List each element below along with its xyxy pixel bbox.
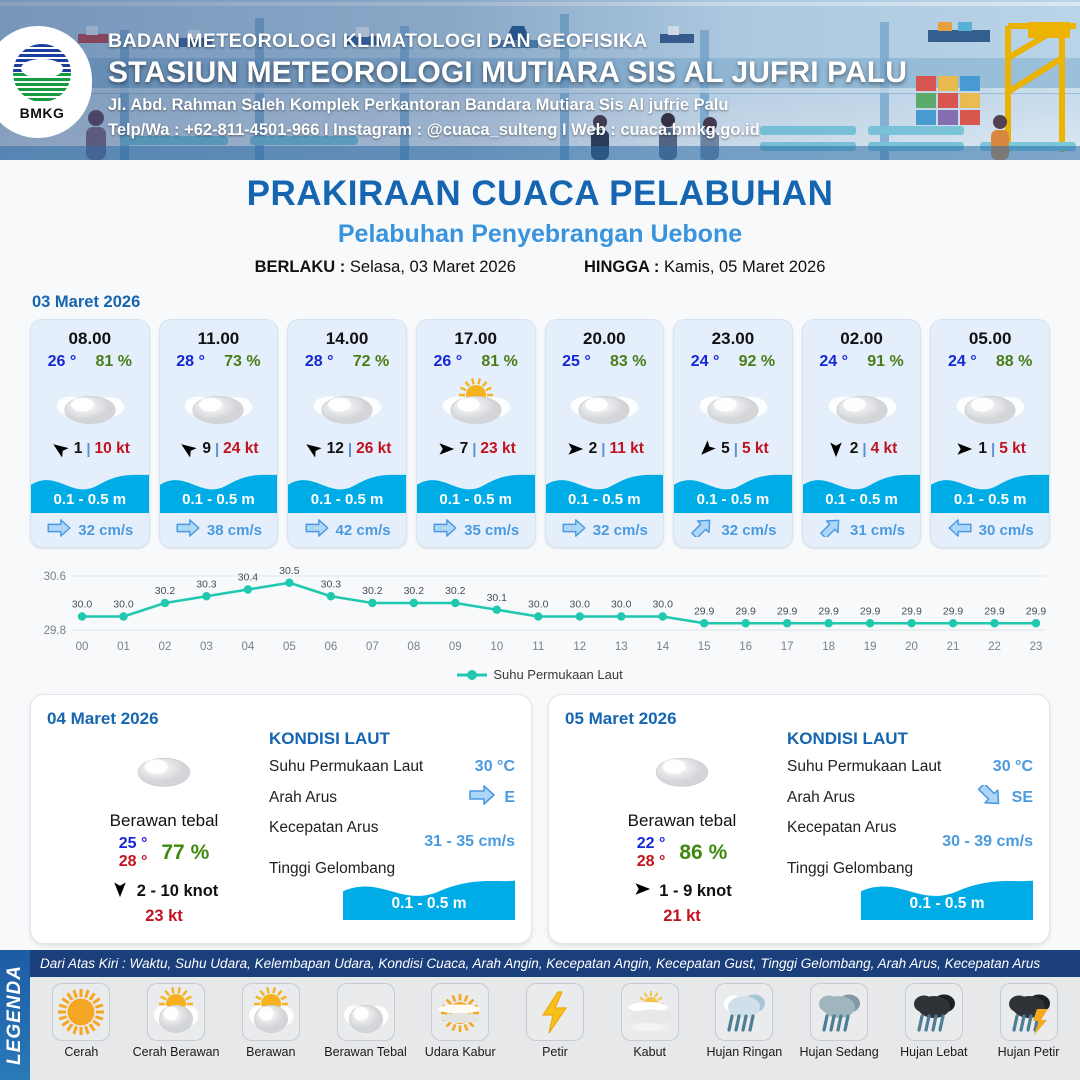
legend-icon-rain-storm-icon — [1000, 983, 1058, 1041]
legend-item-label: Hujan Petir — [983, 1045, 1075, 1059]
daily-temps: 22 ° 28 ° — [637, 835, 666, 871]
card-temperature: 25 ° — [562, 353, 591, 371]
wind-separator: | — [215, 441, 219, 458]
svg-text:30.3: 30.3 — [196, 578, 217, 590]
current-speed-value: 31 - 35 cm/s — [424, 833, 515, 850]
svg-text:06: 06 — [324, 641, 337, 653]
card-temp-humidity: 24 ° 88 % — [931, 349, 1049, 371]
legend-item-label: Udara Kabur — [414, 1045, 506, 1059]
card-current: 30 cm/s — [931, 513, 1049, 547]
daily-weather-icon — [577, 737, 787, 793]
agency-name: BADAN METEOROLOGI KLIMATOLOGI DAN GEOFIS… — [108, 30, 907, 53]
current-direction-icon — [947, 519, 973, 542]
daily-wind-range: 1 - 9 knot — [659, 882, 731, 901]
card-current: 35 cm/s — [417, 513, 535, 547]
wind-gust: 5 kt — [742, 440, 769, 458]
legend-section: LEGENDA Dari Atas Kiri : Waktu, Suhu Uda… — [0, 950, 1080, 1080]
svg-text:29.8: 29.8 — [44, 625, 66, 637]
hourly-card[interactable]: 17.00 26 ° 81 % 7 | 23 kt 0.1 - — [416, 319, 536, 548]
legend-item-label: Berawan — [225, 1045, 317, 1059]
card-temp-humidity: 24 ° 91 % — [803, 349, 921, 371]
wave-height: 0.1 - 0.5 m — [288, 491, 406, 508]
legend-item: Udara Kabur — [414, 983, 506, 1059]
sst-value: 30 °C — [993, 758, 1033, 776]
card-humidity: 81 % — [481, 353, 517, 371]
current-speed: 42 cm/s — [336, 522, 391, 539]
header-text-block: BADAN METEOROLOGI KLIMATOLOGI DAN GEOFIS… — [108, 30, 907, 140]
card-time: 05.00 — [931, 320, 1049, 349]
wind-direction-icon — [178, 440, 198, 458]
daily-forecast-panels: 04 Maret 2026 Berawan tebal 25 ° 28 ° 77… — [0, 682, 1080, 944]
valid-from: BERLAKU : Selasa, 03 Maret 2026 — [255, 258, 516, 277]
legend-item-label: Kabut — [604, 1045, 696, 1059]
card-current: 32 cm/s — [674, 513, 792, 547]
svg-text:23: 23 — [1030, 641, 1043, 653]
hourly-card[interactable]: 05.00 24 ° 88 % 1 | 5 kt 0.1 - 0.5 m — [930, 319, 1050, 548]
station-name: STASIUN METEOROLOGI MUTIARA SIS AL JUFRI… — [108, 56, 907, 90]
daily-wind: 2 - 10 knot — [59, 880, 269, 903]
svg-text:20: 20 — [905, 641, 918, 653]
svg-text:30.0: 30.0 — [113, 599, 134, 611]
legend-icon-haze-icon — [431, 983, 489, 1041]
svg-text:29.9: 29.9 — [694, 605, 715, 617]
weather-icon — [931, 374, 1049, 432]
current-direction-value: E — [504, 789, 515, 807]
wind-gust: 5 kt — [999, 440, 1026, 458]
wind-separator: | — [86, 441, 90, 458]
svg-text:30.6: 30.6 — [44, 571, 66, 583]
card-temperature: 26 ° — [434, 353, 463, 371]
current-direction-row: Arah Arus E — [269, 785, 515, 810]
daily-wave-graphic: 0.1 - 0.5 m — [343, 872, 515, 920]
wind-gust: 11 kt — [609, 440, 643, 458]
daily-temp-humidity: 25 ° 28 ° 77 % — [59, 835, 269, 871]
current-direction-value-group: SE — [976, 785, 1033, 810]
header-banner: BMKG BADAN METEOROLOGI KLIMATOLOGI DAN G… — [0, 0, 1080, 160]
weather-icon — [417, 374, 535, 432]
card-humidity: 72 % — [353, 353, 389, 371]
legend-item: Cerah — [35, 983, 127, 1059]
svg-text:15: 15 — [698, 641, 711, 653]
card-humidity: 73 % — [224, 353, 260, 371]
svg-text:07: 07 — [366, 641, 379, 653]
legend-icon-rain-mod-icon — [810, 983, 868, 1041]
legend-item: Hujan Lebat — [888, 983, 980, 1059]
card-current: 38 cm/s — [160, 513, 278, 547]
daily-condition: Berawan tebal — [59, 811, 269, 831]
chart-legend: Suhu Permukaan Laut — [0, 667, 1080, 682]
card-wind: 1 | 10 kt — [31, 432, 149, 466]
daily-wind: 1 - 9 knot — [577, 880, 787, 903]
infographic-page: BMKG BADAN METEOROLOGI KLIMATOLOGI DAN G… — [0, 0, 1080, 1080]
legend-icon-sun-icon — [52, 983, 110, 1041]
daily-temp-humidity: 22 ° 28 ° 86 % — [577, 835, 787, 871]
hourly-card[interactable]: 23.00 24 ° 92 % 5 | 5 kt 0.1 - 0.5 m — [673, 319, 793, 548]
card-current: 32 cm/s — [546, 513, 664, 547]
wind-direction-icon — [954, 440, 974, 458]
svg-text:30.2: 30.2 — [155, 585, 176, 597]
current-direction-icon — [468, 785, 496, 810]
wave-height: 0.1 - 0.5 m — [803, 491, 921, 508]
svg-text:17: 17 — [781, 641, 794, 653]
legend-item-label: Petir — [509, 1045, 601, 1059]
current-speed: 32 cm/s — [721, 522, 776, 539]
daily-temp-min: 25 ° — [119, 835, 148, 852]
legend-item-label: Hujan Lebat — [888, 1045, 980, 1059]
svg-text:30.3: 30.3 — [321, 578, 342, 590]
legend-item: Berawan Tebal — [320, 983, 412, 1059]
hourly-card[interactable]: 02.00 24 ° 91 % 2 | 4 kt 0.1 - 0.5 m — [802, 319, 922, 548]
svg-text:29.9: 29.9 — [777, 605, 798, 617]
current-direction-icon — [976, 785, 1004, 810]
daily-wind-direction-icon — [632, 880, 652, 903]
card-time: 20.00 — [546, 320, 664, 349]
card-temp-humidity: 24 ° 92 % — [674, 349, 792, 371]
valid-from-value: Selasa, 03 Maret 2026 — [350, 258, 516, 276]
legend-icon-bolt-icon — [526, 983, 584, 1041]
wave-height: 0.1 - 0.5 m — [674, 491, 792, 508]
wind-gust: 10 kt — [95, 440, 130, 458]
legend-item: Kabut — [604, 983, 696, 1059]
wave-height: 0.1 - 0.5 m — [160, 491, 278, 508]
legend-side-label: LEGENDA — [4, 965, 26, 1065]
weather-icon — [546, 374, 664, 432]
daily-temp-max: 28 ° — [119, 853, 148, 870]
daily-wave-value: 0.1 - 0.5 m — [861, 895, 1033, 913]
daily-wave-graphic: 0.1 - 0.5 m — [861, 872, 1033, 920]
validity-row: BERLAKU : Selasa, 03 Maret 2026 HINGGA :… — [0, 258, 1080, 277]
card-time: 11.00 — [160, 320, 278, 349]
card-time: 08.00 — [31, 320, 149, 349]
weather-icon — [803, 374, 921, 432]
svg-text:12: 12 — [573, 641, 586, 653]
daily-wave-value: 0.1 - 0.5 m — [343, 895, 515, 913]
svg-text:29.9: 29.9 — [943, 605, 964, 617]
svg-text:30.0: 30.0 — [570, 599, 591, 611]
daily-temp-min: 22 ° — [637, 835, 666, 852]
svg-text:14: 14 — [656, 641, 669, 653]
svg-text:29.9: 29.9 — [735, 605, 756, 617]
current-direction-value: SE — [1012, 789, 1033, 807]
sst-chart-svg: 30.629.830.00030.00130.20230.30330.40430… — [30, 560, 1050, 665]
wind-separator: | — [991, 441, 995, 458]
legend-item: Hujan Petir — [983, 983, 1075, 1059]
svg-text:10: 10 — [490, 641, 503, 653]
wind-speed: 5 — [721, 440, 730, 458]
daily-wind-direction-icon — [110, 880, 130, 903]
sea-section-title: KONDISI LAUT — [269, 729, 515, 749]
current-speed: 35 cm/s — [464, 522, 519, 539]
current-speed-label: Kecepatan Arus — [269, 819, 378, 837]
daily-gust: 23 kt — [59, 907, 269, 926]
card-wind: 7 | 23 kt — [417, 432, 535, 466]
current-direction-icon — [689, 519, 715, 542]
wind-speed: 9 — [202, 440, 211, 458]
wind-direction-icon — [826, 440, 846, 458]
daily-left: Berawan tebal 22 ° 28 ° 86 % 1 - 9 knot … — [577, 737, 787, 926]
legend-icon-cloud-thick-icon — [337, 983, 395, 1041]
chart-legend-marker — [457, 669, 487, 681]
svg-text:05: 05 — [283, 641, 296, 653]
daily-temps: 25 ° 28 ° — [119, 835, 148, 871]
legend-icon-sun-cloud-icon — [147, 983, 205, 1041]
card-time: 02.00 — [803, 320, 921, 349]
station-address: Jl. Abd. Rahman Saleh Komplek Perkantora… — [108, 96, 907, 115]
svg-text:16: 16 — [739, 641, 752, 653]
card-humidity: 88 % — [996, 353, 1032, 371]
sst-value: 30 °C — [475, 758, 515, 776]
sst-label: Suhu Permukaan Laut — [269, 758, 423, 776]
wind-direction-icon — [697, 440, 717, 458]
wind-speed: 1 — [74, 440, 83, 458]
svg-text:03: 03 — [200, 641, 213, 653]
wind-direction-icon — [50, 440, 70, 458]
daily-date: 05 Maret 2026 — [565, 709, 1033, 729]
current-speed: 32 cm/s — [78, 522, 133, 539]
hourly-card[interactable]: 11.00 28 ° 73 % 9 | 24 kt 0.1 - 0.5 m — [159, 319, 279, 548]
legend-item: Hujan Ringan — [698, 983, 790, 1059]
card-wind: 2 | 4 kt — [803, 432, 921, 466]
current-direction-icon — [304, 519, 330, 542]
svg-text:30.1: 30.1 — [487, 592, 508, 604]
card-temperature: 24 ° — [819, 353, 848, 371]
legend-icon-fog-icon — [621, 983, 679, 1041]
wind-speed: 12 — [327, 440, 344, 458]
svg-text:30.2: 30.2 — [445, 585, 466, 597]
wind-speed: 1 — [978, 440, 987, 458]
card-time: 17.00 — [417, 320, 535, 349]
card-wave: 0.1 - 0.5 m — [31, 466, 149, 513]
current-direction-icon — [432, 519, 458, 542]
daily-temp-max: 28 ° — [637, 853, 666, 870]
card-temp-humidity: 26 ° 81 % — [31, 349, 149, 371]
svg-text:11: 11 — [532, 641, 544, 653]
card-time: 23.00 — [674, 320, 792, 349]
current-speed-value: 30 - 39 cm/s — [942, 833, 1033, 850]
current-speed: 38 cm/s — [207, 522, 262, 539]
svg-text:30.0: 30.0 — [611, 599, 632, 611]
card-humidity: 92 % — [739, 353, 775, 371]
wind-speed: 2 — [850, 440, 859, 458]
card-temp-humidity: 28 ° 72 % — [288, 349, 406, 371]
card-wave: 0.1 - 0.5 m — [160, 466, 278, 513]
hourly-card[interactable]: 14.00 28 ° 72 % 12 | 26 kt 0.1 - 0.5 m — [287, 319, 407, 548]
legend-item-label: Berawan Tebal — [320, 1045, 412, 1059]
wind-gust: 24 kt — [223, 440, 258, 458]
card-temperature: 28 ° — [176, 353, 205, 371]
wave-height: 0.1 - 0.5 m — [31, 491, 149, 508]
card-humidity: 91 % — [867, 353, 903, 371]
card-temperature: 28 ° — [305, 353, 334, 371]
wind-gust: 4 kt — [871, 440, 898, 458]
valid-to-value: Kamis, 05 Maret 2026 — [664, 258, 825, 276]
legend-item: Petir — [509, 983, 601, 1059]
legend-icon-rain-heavy-icon — [905, 983, 963, 1041]
valid-to-label: HINGGA : — [584, 258, 659, 276]
card-wave: 0.1 - 0.5 m — [417, 466, 535, 513]
daily-date: 04 Maret 2026 — [47, 709, 515, 729]
sea-section-title: KONDISI LAUT — [787, 729, 1033, 749]
chart-legend-label: Suhu Permukaan Laut — [493, 667, 622, 682]
card-temperature: 24 ° — [948, 353, 977, 371]
current-speed: 30 cm/s — [979, 522, 1034, 539]
daily-condition: Berawan tebal — [577, 811, 787, 831]
wind-direction-icon — [565, 440, 585, 458]
sst-label: Suhu Permukaan Laut — [787, 758, 941, 776]
wind-direction-icon — [303, 440, 323, 458]
legend-item-label: Hujan Ringan — [698, 1045, 790, 1059]
card-wind: 2 | 11 kt — [546, 432, 664, 466]
card-temperature: 24 ° — [691, 353, 720, 371]
wind-gust: 26 kt — [356, 440, 391, 458]
svg-text:29.9: 29.9 — [1026, 605, 1047, 617]
legend-items: Cerah Cerah Berawan Berawan — [30, 977, 1080, 1059]
valid-to: HINGGA : Kamis, 05 Maret 2026 — [584, 258, 825, 277]
title-block: PRAKIRAAN CUACA PELABUHAN Pelabuhan Peny… — [0, 160, 1080, 277]
card-time: 14.00 — [288, 320, 406, 349]
current-direction-icon — [175, 519, 201, 542]
current-direction-value-group: E — [468, 785, 515, 810]
card-wave: 0.1 - 0.5 m — [288, 466, 406, 513]
card-humidity: 83 % — [610, 353, 646, 371]
wind-separator: | — [734, 441, 738, 458]
current-speed: 32 cm/s — [593, 522, 648, 539]
daily-forecast-panel[interactable]: 04 Maret 2026 Berawan tebal 25 ° 28 ° 77… — [30, 694, 532, 944]
wind-speed: 2 — [589, 440, 598, 458]
wind-separator: | — [601, 441, 605, 458]
card-current: 32 cm/s — [31, 513, 149, 547]
svg-text:29.9: 29.9 — [860, 605, 881, 617]
legend-main: Dari Atas Kiri : Waktu, Suhu Udara, Kele… — [30, 950, 1080, 1080]
card-wave: 0.1 - 0.5 m — [546, 466, 664, 513]
card-wind: 12 | 26 kt — [288, 432, 406, 466]
weather-icon — [160, 374, 278, 432]
svg-text:29.9: 29.9 — [818, 605, 839, 617]
weather-icon — [674, 374, 792, 432]
legend-item-label: Cerah — [35, 1045, 127, 1059]
svg-text:30.4: 30.4 — [238, 572, 259, 584]
valid-from-label: BERLAKU : — [255, 258, 346, 276]
svg-text:29.9: 29.9 — [901, 605, 922, 617]
legend-side-banner: LEGENDA — [0, 950, 30, 1080]
card-wind: 1 | 5 kt — [931, 432, 1049, 466]
current-direction-label: Arah Arus — [269, 789, 337, 807]
sst-row: Suhu Permukaan Laut 30 °C — [787, 758, 1033, 776]
card-wave: 0.1 - 0.5 m — [803, 466, 921, 513]
daily-humidity: 77 % — [161, 841, 209, 865]
svg-text:30.0: 30.0 — [72, 599, 93, 611]
svg-text:18: 18 — [822, 641, 835, 653]
card-temp-humidity: 25 ° 83 % — [546, 349, 664, 371]
card-temp-humidity: 28 ° 73 % — [160, 349, 278, 371]
sst-row: Suhu Permukaan Laut 30 °C — [269, 758, 515, 776]
daily-sea-conditions: KONDISI LAUT Suhu Permukaan Laut 30 °C A… — [269, 729, 515, 920]
hourly-forecast-cards: 08.00 26 ° 81 % 1 | 10 kt 0.1 - 0.5 m — [0, 319, 1080, 548]
page-subtitle: Pelabuhan Penyebrangan Uebone — [0, 220, 1080, 249]
svg-text:04: 04 — [242, 641, 255, 653]
card-wave: 0.1 - 0.5 m — [931, 466, 1049, 513]
wave-height: 0.1 - 0.5 m — [417, 491, 535, 508]
wind-separator: | — [472, 441, 476, 458]
wave-height: 0.1 - 0.5 m — [931, 491, 1049, 508]
current-speed: 31 cm/s — [850, 522, 905, 539]
wind-direction-icon — [436, 440, 456, 458]
wind-gust: 23 kt — [480, 440, 515, 458]
current-speed-label: Kecepatan Arus — [787, 819, 896, 837]
svg-text:13: 13 — [615, 641, 628, 653]
daily-gust: 21 kt — [577, 907, 787, 926]
svg-text:01: 01 — [117, 641, 130, 653]
current-direction-icon — [818, 519, 844, 542]
svg-text:02: 02 — [159, 641, 172, 653]
wind-separator: | — [862, 441, 866, 458]
current-direction-icon — [561, 519, 587, 542]
card-temp-humidity: 26 ° 81 % — [417, 349, 535, 371]
daily-forecast-panel[interactable]: 05 Maret 2026 Berawan tebal 22 ° 28 ° 86… — [548, 694, 1050, 944]
hourly-card[interactable]: 20.00 25 ° 83 % 2 | 11 kt 0.1 - 0.5 m — [545, 319, 665, 548]
hourly-date-label: 03 Maret 2026 — [32, 293, 1080, 312]
svg-text:30.5: 30.5 — [279, 565, 300, 577]
wind-speed: 7 — [460, 440, 469, 458]
svg-text:08: 08 — [407, 641, 420, 653]
svg-text:30.0: 30.0 — [528, 599, 549, 611]
card-current: 42 cm/s — [288, 513, 406, 547]
weather-icon — [288, 374, 406, 432]
hourly-card[interactable]: 08.00 26 ° 81 % 1 | 10 kt 0.1 - 0.5 m — [30, 319, 150, 548]
legend-item: Hujan Sedang — [793, 983, 885, 1059]
wind-separator: | — [348, 441, 352, 458]
svg-text:22: 22 — [988, 641, 1001, 653]
daily-wind-range: 2 - 10 knot — [137, 882, 219, 901]
header-bottom-band — [0, 146, 1080, 160]
sst-chart: 30.629.830.00030.00130.20230.30330.40430… — [30, 560, 1050, 665]
svg-text:30.2: 30.2 — [404, 585, 425, 597]
bmkg-logo-mark — [13, 44, 71, 102]
daily-sea-conditions: KONDISI LAUT Suhu Permukaan Laut 30 °C A… — [787, 729, 1033, 920]
daily-humidity: 86 % — [679, 841, 727, 865]
svg-text:30.0: 30.0 — [652, 599, 673, 611]
legend-icon-rain-light-icon — [715, 983, 773, 1041]
legend-item-label: Cerah Berawan — [130, 1045, 222, 1059]
weather-icon — [31, 374, 149, 432]
wave-height: 0.1 - 0.5 m — [546, 491, 664, 508]
card-wind: 5 | 5 kt — [674, 432, 792, 466]
daily-weather-icon — [59, 737, 269, 793]
svg-text:30.2: 30.2 — [362, 585, 383, 597]
card-humidity: 81 % — [96, 353, 132, 371]
card-temperature: 26 ° — [48, 353, 77, 371]
legend-item: Cerah Berawan — [130, 983, 222, 1059]
station-contact: Telp/Wa : +62-811-4501-966 I Instagram :… — [108, 121, 907, 140]
legend-item: Berawan — [225, 983, 317, 1059]
svg-text:21: 21 — [947, 641, 960, 653]
current-direction-icon — [46, 519, 72, 542]
card-wind: 9 | 24 kt — [160, 432, 278, 466]
card-wave: 0.1 - 0.5 m — [674, 466, 792, 513]
page-title: PRAKIRAAN CUACA PELABUHAN — [0, 174, 1080, 214]
svg-text:09: 09 — [449, 641, 462, 653]
svg-text:00: 00 — [76, 641, 89, 653]
svg-text:29.9: 29.9 — [984, 605, 1005, 617]
legend-item-label: Hujan Sedang — [793, 1045, 885, 1059]
current-direction-row: Arah Arus SE — [787, 785, 1033, 810]
card-current: 31 cm/s — [803, 513, 921, 547]
daily-left: Berawan tebal 25 ° 28 ° 77 % 2 - 10 knot… — [59, 737, 269, 926]
current-direction-label: Arah Arus — [787, 789, 855, 807]
bmkg-logo-text: BMKG — [20, 105, 65, 121]
legend-icon-cloud-sun-icon — [242, 983, 300, 1041]
legend-note: Dari Atas Kiri : Waktu, Suhu Udara, Kele… — [30, 950, 1080, 977]
